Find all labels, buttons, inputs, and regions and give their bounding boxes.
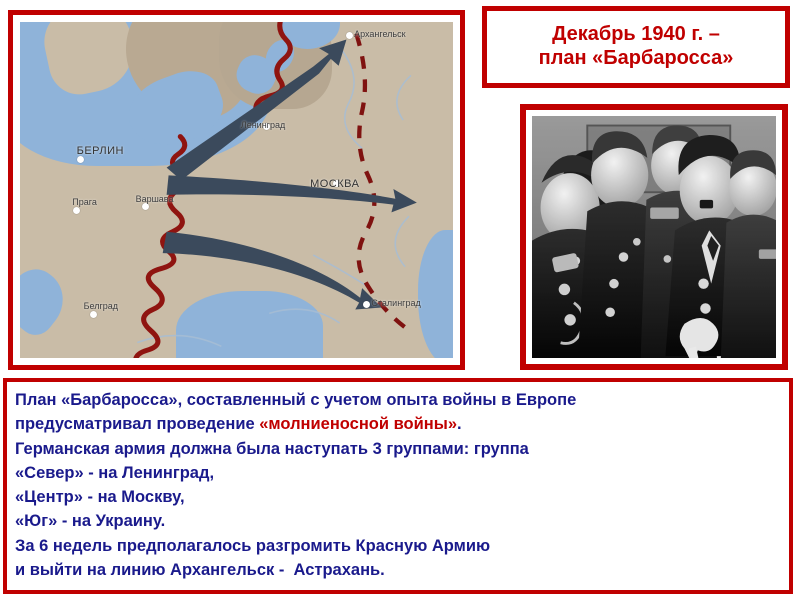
description-line: предусматривал проведение «молниеносной … [15,412,781,436]
city-label: МОСКВА [310,178,359,190]
description-line: «Юг» - на Украину. [15,509,781,533]
description-text: План «Барбаросса», составленный с учетом… [15,388,781,582]
city-label: Прага [72,197,97,207]
city-label: Белград [84,301,118,311]
photo-artwork [532,116,776,358]
city-label: Варшава [136,194,174,204]
description-line: Германская армия должна была наступать 3… [15,437,781,461]
map-panel: БЕРЛИНПрагаВаршаваБелградЛенинградМОСКВА… [8,10,465,370]
description-line: «Центр» - на Москву, [15,485,781,509]
photo-panel [520,104,788,370]
description-line: и выйти на линию Архангельск - Астрахань… [15,558,781,582]
city-marker [73,207,80,214]
city-marker [90,311,97,318]
historical-photograph [532,116,776,358]
description-line: За 6 недель предполагалось разгромить Кр… [15,534,781,558]
city-marker [346,32,353,39]
description-line: План «Барбаросса», составленный с учетом… [15,388,781,412]
city-marker [363,301,370,308]
description-text-box: План «Барбаросса», составленный с учетом… [3,378,793,594]
city-label: Ленинград [241,120,285,130]
slide-title: Декабрь 1940 г. – план «Барбаросса» [539,23,734,70]
city-label: Архангельск [354,29,405,39]
city-label: Сталинград [371,298,420,308]
description-line: «Север» - на Ленинград, [15,461,781,485]
city-label: БЕРЛИН [77,145,124,157]
accent-phrase: «молниеносной войны» [259,415,457,433]
map-canvas: БЕРЛИНПрагаВаршаваБелградЛенинградМОСКВА… [20,22,453,358]
title-box: Декабрь 1940 г. – план «Барбаросса» [482,6,790,88]
